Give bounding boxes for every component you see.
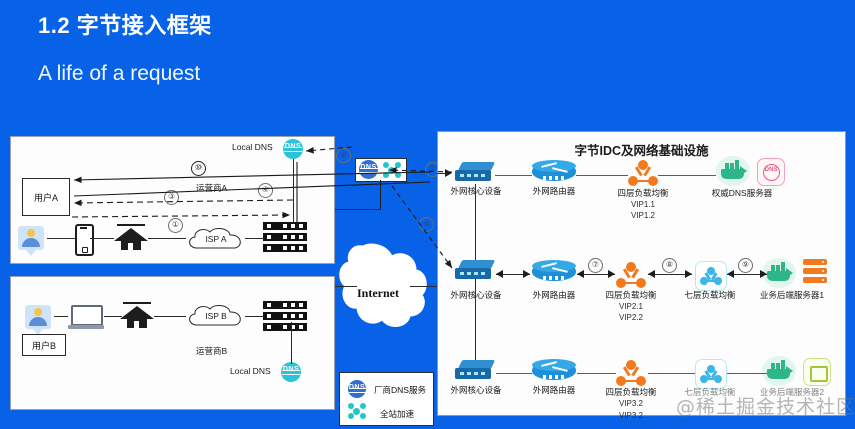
row1-authdns-icon: DNS (757, 158, 785, 186)
page-title: 1.2 字节接入框架 (38, 8, 212, 40)
step-10: ⑩ (191, 161, 206, 176)
phone-icon (75, 224, 94, 256)
row2-backend-label: 业务后端服务器1 (760, 290, 824, 301)
user-b-box: 用户B (22, 334, 66, 356)
row2-l7lb-icon (695, 261, 727, 291)
row2-arrow-2r (608, 270, 615, 278)
row1-link-3 (658, 175, 716, 176)
legend-cdn-accel-icon (348, 403, 366, 419)
watermark: @稀土掘金技术社区 (676, 392, 855, 419)
row2-arrow-4r (760, 270, 767, 278)
link-a-1 (47, 238, 75, 239)
avatar-user-b (25, 305, 51, 329)
row2-backend-servers-icon (803, 259, 827, 285)
row3-link-1 (496, 373, 532, 374)
row1-l4lb-icon (628, 160, 658, 186)
row2-arrow-2l (577, 270, 584, 278)
row3-router-label: 外网路由器 (533, 385, 576, 396)
row2-arrow-3r (685, 270, 692, 278)
server-rack-b (263, 301, 307, 331)
local-dns-b-icon (281, 362, 301, 382)
step-9: ⑨ (738, 258, 753, 273)
row3-l4lb-label: 四层负载均衡 (605, 387, 656, 398)
row2-arrow-1r (523, 270, 530, 278)
home-icon-b (120, 302, 154, 328)
link-b-dns-rack (291, 322, 292, 364)
row3-link-2 (577, 373, 616, 374)
row2-vip-1: VIP2.1 (619, 302, 643, 312)
legend-dns-globe-icon (348, 380, 366, 398)
row3-vip-2: VIP3.2 (619, 411, 643, 421)
carrier-b-label: 运营商B (196, 346, 227, 357)
server-rack-a (263, 222, 307, 252)
link-a-dns-rack (293, 159, 294, 223)
user-a-box: 用户A (22, 178, 70, 216)
row3-backend-app-icon (803, 358, 831, 386)
internet-label: Internet (357, 286, 399, 301)
cdn-dns-node (355, 158, 407, 182)
row1-vip-2: VIP1.2 (631, 211, 655, 221)
row1-authdns-label: 权威DNS服务器 (712, 188, 772, 199)
step-7: ⑦ (588, 258, 603, 273)
link-panel-cloud-a (335, 209, 380, 210)
row1-switch-label: 外网核心设备 (450, 186, 501, 197)
laptop-icon (68, 305, 104, 329)
idc-title: 字节IDC及网络基础设施 (438, 140, 845, 159)
link-a-4 (245, 238, 264, 239)
step-4: ④ (258, 183, 273, 198)
link-panel-cloud-b (335, 286, 357, 287)
isp-a-label: ISP A (205, 234, 226, 245)
user-b-label: 用户B (32, 339, 56, 352)
step-2: ② (336, 148, 351, 163)
row2-l4lb-icon (616, 262, 646, 288)
row3-switch-label: 外网核心设备 (450, 385, 501, 396)
row1-l4lb-label: 四层负载均衡 (617, 188, 668, 199)
row1-link-1 (495, 175, 532, 176)
row3-link-3 (648, 373, 695, 374)
home-icon-a (114, 224, 148, 250)
row2-switch-icon (455, 260, 495, 282)
local-dns-b-label: Local DNS (230, 366, 271, 377)
avatar-tail-a (26, 250, 36, 256)
row2-vip-2: VIP2.2 (619, 313, 643, 323)
row1-authdns-whale-icon (716, 156, 750, 186)
row1-vip-1: VIP1.1 (631, 200, 655, 210)
link-b-4 (245, 316, 264, 317)
row3-link-4 (727, 373, 767, 374)
link-b-1 (54, 316, 68, 317)
step-6: ⑥ (419, 217, 434, 232)
legend-box: 厂商DNS服务 全站加速 (339, 372, 434, 426)
step-8: ⑧ (662, 258, 677, 273)
row3-vip-1: VIP3.2 (619, 399, 643, 409)
link-a-2 (90, 238, 114, 239)
user-a-label: 用户A (34, 191, 58, 204)
row2-arrow-1l (496, 270, 503, 278)
row1-switch-icon (455, 162, 495, 184)
carrier-a-label: 运营商A (196, 183, 227, 194)
row1-router-label: 外网路由器 (533, 186, 576, 197)
row3-l4lb-icon (616, 360, 646, 386)
row2-l4lb-label: 四层负载均衡 (605, 290, 656, 301)
full-site-accel-icon (383, 162, 401, 178)
page-subtitle: A life of a request (38, 62, 200, 86)
row3-switch-icon (455, 360, 495, 382)
row2-arrow-4l (727, 270, 734, 278)
row2-backend-whale-icon (762, 258, 796, 288)
row2-l7lb-label: 七层负载均衡 (684, 290, 735, 301)
isp-b-label: ISP B (205, 311, 227, 322)
row2-router-label: 外网路由器 (533, 290, 576, 301)
local-dns-a-label: Local DNS (232, 142, 273, 153)
avatar-user-a (18, 226, 44, 250)
local-dns-a-icon (283, 139, 303, 159)
row2-router-icon (532, 258, 576, 284)
link-b-2 (104, 316, 122, 317)
link-cdn-cloud (380, 180, 381, 210)
row1-router-icon (532, 158, 576, 184)
legend-label-accel: 全站加速 (380, 408, 414, 420)
step-3: ③ (164, 190, 179, 205)
vendor-dns-icon (359, 160, 378, 179)
row2-switch-label: 外网核心设备 (450, 290, 501, 301)
row3-l7lb-icon (695, 359, 727, 389)
link-b-3 (154, 316, 186, 317)
step-1: ① (168, 218, 183, 233)
row1-link-2 (576, 175, 628, 176)
link-cloud-idc (410, 286, 437, 287)
row2-arrow-3l (648, 270, 655, 278)
row3-router-icon (532, 357, 576, 383)
slide-root: 1.2 字节接入框架 A life of a request 用户A ISP A… (0, 0, 855, 429)
legend-label-dns: 厂商DNS服务 (374, 384, 426, 396)
row1-inbound-line (437, 173, 447, 174)
row3-backend-whale-icon (762, 356, 796, 386)
link-a-3 (148, 238, 186, 239)
